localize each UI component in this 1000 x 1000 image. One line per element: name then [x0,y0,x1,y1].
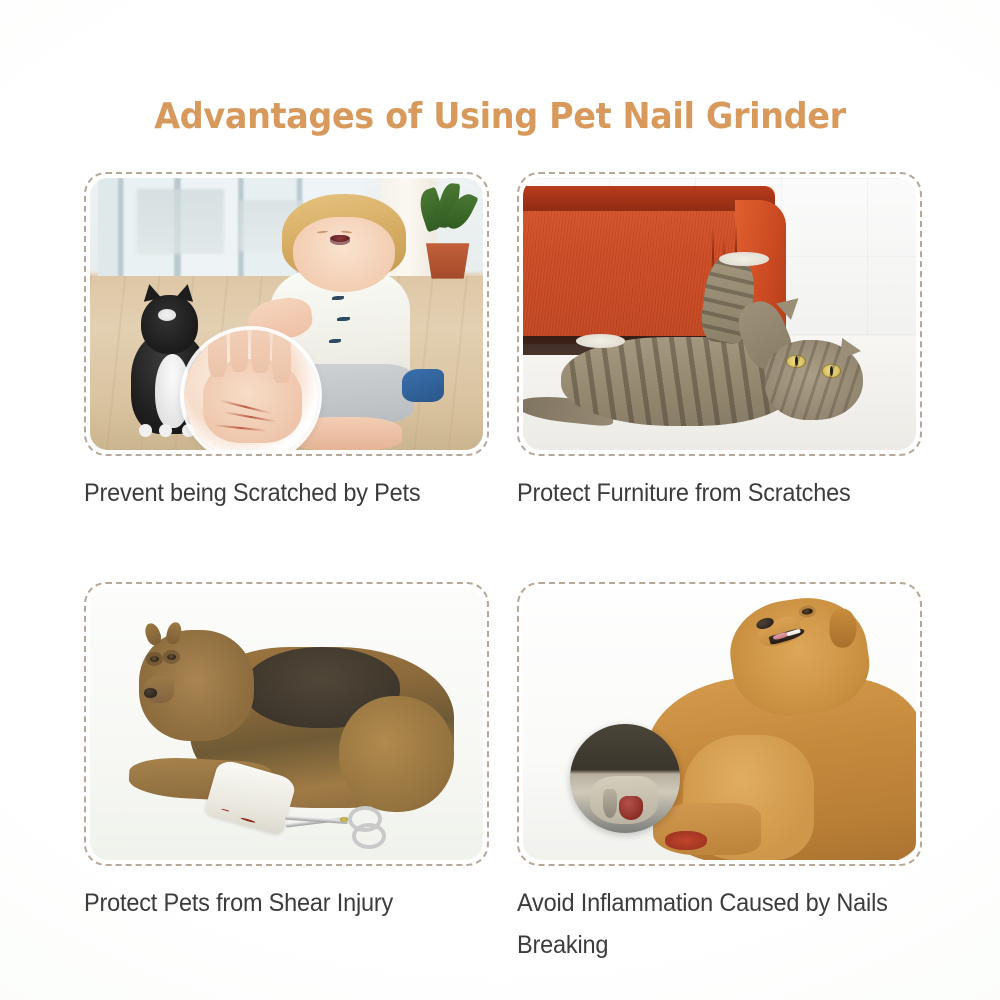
finger-shape [272,330,291,382]
fish-print-icon [337,317,350,321]
dog-head [139,630,254,742]
scissor-screw [340,817,348,823]
photo-golden-retriever-paw [523,588,916,860]
finger-shape [208,330,227,377]
toddler-eye-right [341,230,352,234]
inflamed-nail [665,831,707,849]
dog-eye [801,608,813,615]
image-card-inflammation[interactable] [517,582,922,866]
tabby-cat [531,298,908,450]
grid-row-1: Prevent being Scratched by Pets [84,172,922,514]
image-frame-3 [90,588,483,860]
cat-head [141,295,198,354]
dog-ear [828,608,857,648]
toddler-eye-left [317,230,328,234]
image-card-shear-injury[interactable] [84,582,489,866]
blood-stain [222,808,229,812]
cat-ear-right [176,282,197,301]
dog-ear-left [143,621,164,647]
page-title: Advantages of Using Pet Nail Grinder [35,96,965,137]
advantage-cell-protect-furniture: Protect Furniture from Scratches [517,172,922,514]
card-caption-shear-injury: Protect Pets from Shear Injury [84,882,488,924]
cat-eye-right [822,364,842,377]
dog-haunch [339,696,454,812]
card-caption-protect-furniture: Protect Furniture from Scratches [517,472,921,514]
card-caption-inflammation: Avoid Inflammation Caused by Nails Break… [517,882,921,966]
image-frame-1 [90,178,483,450]
close-up-broken-nail [619,796,643,820]
image-card-prevent-scratched[interactable] [84,172,489,456]
cat-ear-left [141,282,162,301]
advantages-grid: Prevent being Scratched by Pets [84,172,922,966]
image-frame-4 [523,588,916,860]
advantage-cell-prevent-scratched: Prevent being Scratched by Pets [84,172,489,514]
magnifier-circle-scratched-hand [184,330,318,450]
finger-shape [230,330,249,372]
cat-paw [139,424,152,437]
dog-eye-right [167,654,176,660]
fish-print-icon [332,296,345,300]
cat-paw [576,334,625,348]
scissor-handle-ring [352,823,386,849]
blood-stain [241,817,256,823]
dog-nose [144,688,157,698]
dog-ear-right [164,620,183,645]
image-frame-2 [523,178,916,450]
toddler-shorts-blue [402,369,443,402]
photo-dog-bandaged-paw [90,588,483,860]
cat-ear-right [840,338,862,362]
cat-eye-left [786,355,806,368]
advantage-cell-inflammation: Avoid Inflammation Caused by Nails Break… [517,582,922,966]
injured-dog [129,621,467,844]
grid-row-2: Protect Pets from Shear Injury [84,582,922,966]
image-card-protect-furniture[interactable] [517,172,922,456]
golden-retriever [629,599,916,860]
scissors-icon [285,804,386,844]
dog-eye-left [150,656,159,662]
advantage-cell-shear-injury: Protect Pets from Shear Injury [84,582,489,966]
toddler-crying-mouth [330,235,350,245]
cat-paw [719,252,768,266]
magnifier-circle-inflamed-paw [570,724,680,833]
photo-toddler-and-cat [90,178,483,450]
fish-print-icon [329,339,342,343]
photo-cat-scratching-sofa [523,178,916,450]
cat-muzzle [158,309,176,321]
card-caption-prevent-scratched: Prevent being Scratched by Pets [84,472,488,514]
toddler-face [293,217,395,292]
cat-paw [159,424,172,437]
poster-page: Advantages of Using Pet Nail Grinder [0,0,1000,1000]
finger-shape [251,330,270,373]
building-shape [137,189,223,254]
